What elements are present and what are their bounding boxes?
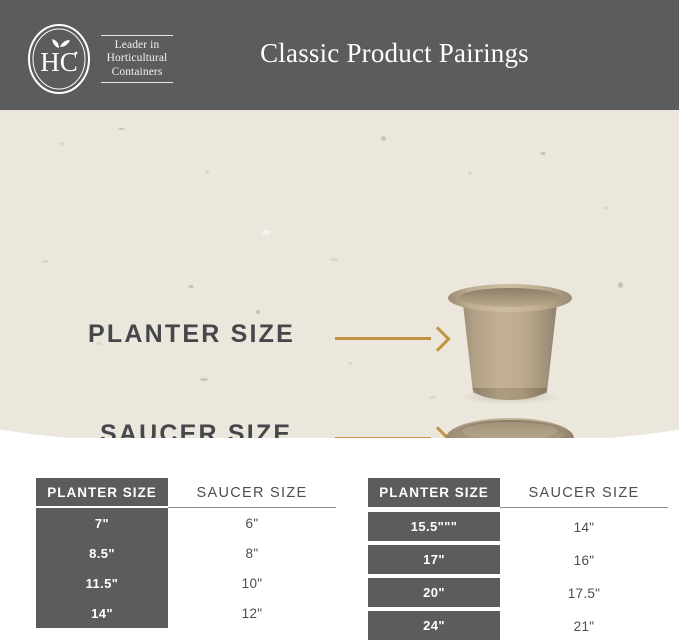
- cell-saucer-size: 21": [500, 611, 668, 641]
- cell-planter-size: 7": [36, 508, 168, 538]
- table-row: 7" 6": [36, 508, 336, 538]
- cell-saucer-size: 10": [168, 568, 336, 598]
- saucer-right-arrow-icon: [335, 428, 451, 438]
- size-table-small: PLANTER SIZE SAUCER SIZE 7" 6" 8.5" 8" 1…: [36, 478, 336, 628]
- table-row: 24" 21": [368, 611, 668, 641]
- table-row: 8.5" 8": [36, 538, 336, 568]
- table-row: 17" 16": [368, 545, 668, 575]
- cell-saucer-size: 6": [168, 508, 336, 538]
- cell-planter-size: 17": [368, 545, 500, 575]
- page-title: Classic Product Pairings: [0, 38, 679, 69]
- column-header-planter-size: PLANTER SIZE: [36, 478, 168, 508]
- cell-planter-size: 15.5""": [368, 512, 500, 542]
- table-row: 20" 17.5": [368, 578, 668, 608]
- cell-saucer-size: 12": [168, 598, 336, 628]
- planter-pot-image: [448, 278, 572, 400]
- table-header-row: PLANTER SIZE SAUCER SIZE: [36, 478, 336, 508]
- column-header-saucer-size: SAUCER SIZE: [500, 478, 668, 508]
- saucer-dish-image: [440, 416, 580, 438]
- header-bar: HC Leader in Horticultural Containers Cl…: [0, 0, 679, 110]
- cell-saucer-size: 17.5": [500, 578, 668, 608]
- column-header-saucer-size: SAUCER SIZE: [168, 478, 336, 508]
- tagline-rule-bottom: [101, 82, 173, 83]
- size-table-large: PLANTER SIZE SAUCER SIZE 15.5""" 14" 17"…: [368, 478, 668, 644]
- size-chart-area: PLANTER SIZE SAUCER SIZE 7" 6" 8.5" 8" 1…: [0, 438, 679, 636]
- tagline-rule-top: [101, 35, 173, 36]
- cell-planter-size: 20": [368, 578, 500, 608]
- table-header-row: PLANTER SIZE SAUCER SIZE: [368, 478, 668, 508]
- planter-size-label: PLANTER SIZE: [88, 320, 295, 349]
- cell-planter-size: 11.5": [36, 568, 168, 598]
- hero-background: [0, 110, 679, 438]
- table-row: 11.5" 10": [36, 568, 336, 598]
- hero-panel: PLANTER SIZE SAUCER SIZE: [0, 110, 679, 438]
- cell-planter-size: 8.5": [36, 538, 168, 568]
- cell-saucer-size: 16": [500, 545, 668, 575]
- table-row: 14" 12": [36, 598, 336, 628]
- cell-saucer-size: 14": [500, 512, 668, 542]
- table-row: 15.5""" 14": [368, 512, 668, 542]
- cell-planter-size: 14": [36, 598, 168, 628]
- planter-right-arrow-icon: [335, 328, 451, 350]
- column-header-planter-size: PLANTER SIZE: [368, 478, 500, 508]
- saucer-size-label: SAUCER SIZE: [100, 420, 240, 438]
- cell-planter-size: 24": [368, 611, 500, 641]
- cell-saucer-size: 8": [168, 538, 336, 568]
